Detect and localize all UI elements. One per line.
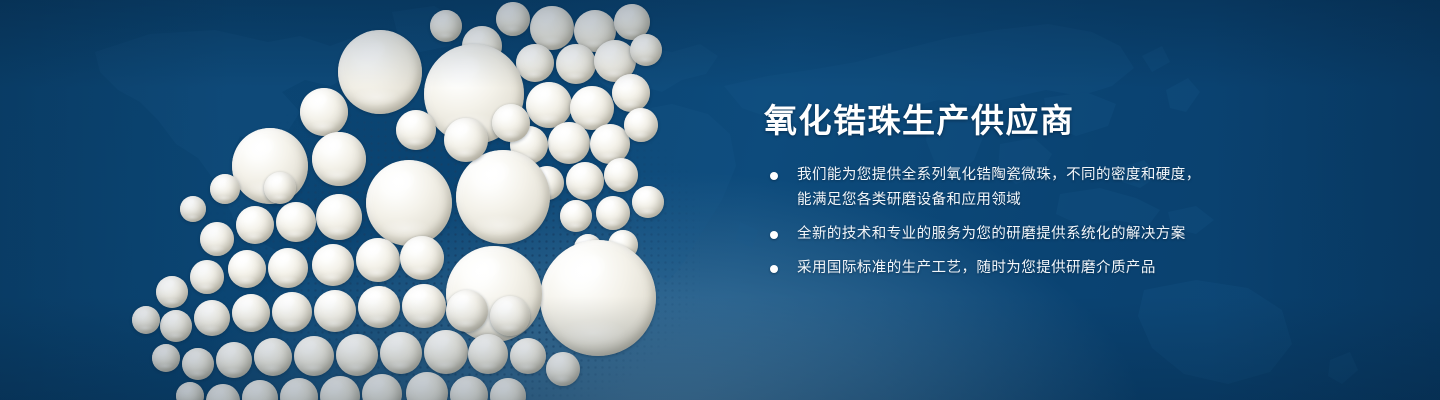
bullet-text-line: 能满足您各类研磨设备和应用领域 xyxy=(797,188,1404,213)
list-item: 采用国际标准的生产工艺，随时为您提供研磨介质产品 xyxy=(764,256,1404,281)
banner-copy: 氧化锆珠生产供应商 我们能为您提供全系列氧化锆陶瓷微珠，不同的密度和硬度， 能满… xyxy=(764,104,1404,281)
bullet-dot-icon xyxy=(770,265,778,273)
bullet-text-line: 全新的技术和专业的服务为您的研磨提供系统化的解决方案 xyxy=(797,222,1404,247)
bullet-text-line: 采用国际标准的生产工艺，随时为您提供研磨介质产品 xyxy=(797,256,1404,281)
banner-feature-list: 我们能为您提供全系列氧化锆陶瓷微珠，不同的密度和硬度， 能满足您各类研磨设备和应… xyxy=(764,163,1404,281)
hero-banner: 氧化锆珠生产供应商 我们能为您提供全系列氧化锆陶瓷微珠，不同的密度和硬度， 能满… xyxy=(0,0,1440,400)
banner-headline: 氧化锆珠生产供应商 xyxy=(764,104,1404,137)
bullet-text-line: 我们能为您提供全系列氧化锆陶瓷微珠，不同的密度和硬度， xyxy=(797,163,1404,188)
list-item: 全新的技术和专业的服务为您的研磨提供系统化的解决方案 xyxy=(764,222,1404,247)
bullet-dot-icon xyxy=(770,231,778,239)
list-item: 我们能为您提供全系列氧化锆陶瓷微珠，不同的密度和硬度， 能满足您各类研磨设备和应… xyxy=(764,163,1404,213)
bullet-dot-icon xyxy=(770,172,778,180)
